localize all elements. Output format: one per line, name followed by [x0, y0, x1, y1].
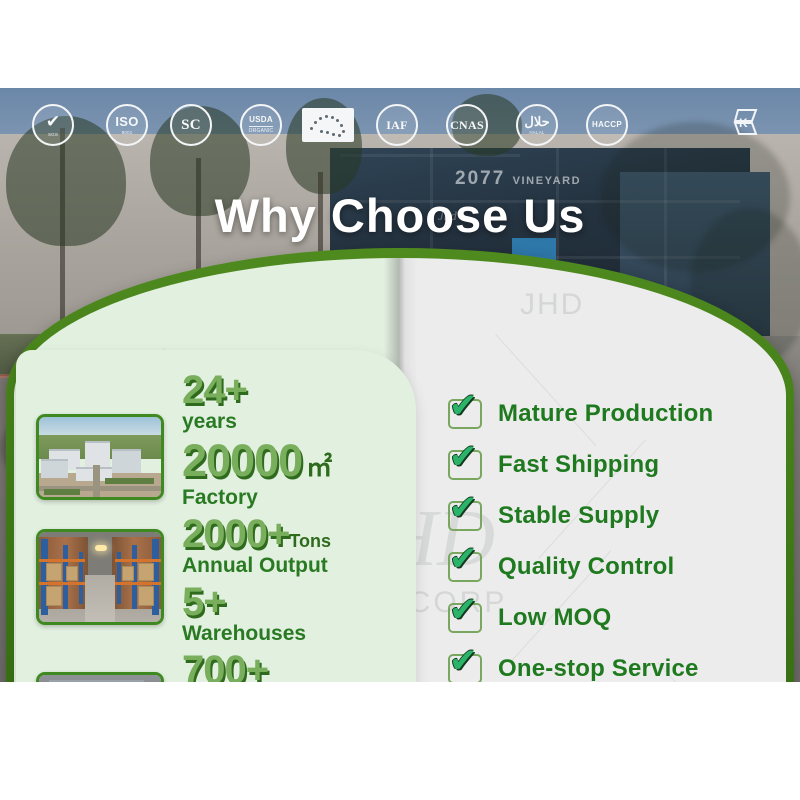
warehouse-aisle-photo[interactable] [36, 529, 164, 625]
sgs-badge[interactable]: ✔ SGS [30, 102, 76, 148]
photo-rack-rail [39, 559, 85, 562]
halal-arabic-icon: حلال [524, 115, 549, 128]
statistics-list: 24+ years 20000㎡ Factory 2000+Tons Annua… [182, 370, 412, 682]
photo-building [41, 459, 68, 478]
checkbox[interactable]: ✔ [448, 501, 482, 531]
checkbox[interactable]: ✔ [448, 399, 482, 429]
photo-carton [46, 563, 62, 581]
stat-value: 700+ [182, 650, 268, 682]
stat-value: 24+ [182, 370, 247, 410]
stat-value: 20000 [182, 438, 302, 483]
check-icon: ✔ [449, 440, 478, 474]
photo-carton [66, 566, 78, 581]
haccp-label: HACCP [592, 121, 622, 129]
haccp-badge[interactable]: HACCP [584, 102, 630, 148]
iaf-label: IAF [386, 119, 408, 131]
photo-carton [138, 586, 154, 606]
photo-aisle [85, 575, 114, 622]
advantage-item-low-moq[interactable]: ✔ Low MOQ [448, 592, 768, 643]
photo-carton [138, 563, 154, 581]
advantage-label: Stable Supply [498, 502, 659, 530]
kosher-k-letter: K [739, 116, 748, 130]
checkbox[interactable]: ✔ [448, 603, 482, 633]
kosher-badge[interactable]: K [730, 106, 770, 146]
check-icon: ✔ [449, 491, 478, 525]
advantages-checklist: ✔ Mature Production ✔ Fast Shipping ✔ St… [448, 388, 768, 682]
photo-rack-rail [115, 559, 161, 562]
photo-pipe [49, 680, 144, 682]
halal-label: HALAL [529, 130, 544, 135]
iaf-badge[interactable]: IAF [374, 102, 420, 148]
usda-organic-label: ORGANIC [249, 126, 274, 134]
advantage-item-fast-shipping[interactable]: ✔ Fast Shipping [448, 439, 768, 490]
check-icon: ✔ [449, 593, 478, 627]
checkbox[interactable]: ✔ [448, 450, 482, 480]
stat-factory-area: 20000㎡ Factory [182, 438, 412, 509]
iso-badge[interactable]: ISO 9001 [104, 102, 150, 148]
processing-tanks-photo[interactable] [36, 672, 164, 682]
advantage-label: Quality Control [498, 553, 674, 581]
photo-lawn [105, 478, 154, 484]
stat-annual-output: 2000+Tons Annual Output [182, 514, 412, 577]
page-title: Why Choose Us [0, 188, 800, 243]
sc-label: SC [181, 118, 201, 133]
photo-road [93, 465, 100, 497]
advantage-item-one-stop-service[interactable]: ✔ One-stop Service [448, 643, 768, 682]
advantage-label: Mature Production [498, 400, 713, 428]
halal-badge[interactable]: حلال HALAL [514, 102, 560, 148]
advantage-item-quality-control[interactable]: ✔ Quality Control [448, 541, 768, 592]
advantage-item-stable-supply[interactable]: ✔ Stable Supply [448, 490, 768, 541]
stat-warehouses: 5+ Warehouses [182, 582, 412, 645]
check-icon: ✔ [449, 389, 478, 423]
sgs-label: SGS [48, 132, 58, 137]
usda-badge[interactable]: USDA ORGANIC [238, 102, 284, 148]
kosher-k-icon: K [730, 106, 764, 140]
advantage-item-mature-production[interactable]: ✔ Mature Production [448, 388, 768, 439]
photo-rack-rail [39, 582, 85, 585]
stat-caption: Factory [182, 487, 412, 509]
stat-unit: ㎡ [306, 447, 332, 484]
stat-caption: Warehouses [182, 623, 412, 645]
sc-badge[interactable]: SC [168, 102, 214, 148]
cnas-label: CNAS [450, 119, 484, 131]
certification-badge-strip: ✔ SGS ISO 9001 SC USDA ORGANIC [0, 102, 800, 148]
stat-value: 2000+ [182, 514, 289, 554]
iso-label: ISO [115, 115, 138, 128]
building-street-number: 2077 VINEYARD [455, 168, 581, 190]
eu-organic-badge[interactable] [302, 108, 354, 142]
check-icon: ✔ [449, 542, 478, 576]
building-street-name: VINEYARD [513, 175, 582, 187]
stat-caption: years [182, 411, 412, 433]
eu-organic-leaf-icon [308, 113, 348, 137]
stat-value: 5+ [182, 582, 226, 622]
photo-lawn [44, 489, 81, 495]
check-circle-icon: ✔ [46, 113, 60, 130]
iso-standard-number: 9001 [122, 130, 133, 135]
photo-carton [46, 586, 62, 606]
stat-years: 24+ years [182, 370, 412, 433]
check-icon: ✔ [449, 644, 478, 678]
stat-unit: Tons [289, 531, 331, 552]
stat-caption: Annual Output [182, 555, 412, 577]
advantage-label: Low MOQ [498, 604, 611, 632]
usda-label: USDA [249, 116, 273, 124]
poster-canvas: 2077 VINEYARD Jhd ✔ SGS ISO 9001 [0, 88, 800, 682]
photo-carton [122, 566, 134, 581]
factory-aerial-photo[interactable] [36, 414, 164, 500]
advantage-label: One-stop Service [498, 655, 699, 683]
photo-pipe [90, 680, 93, 682]
photo-rack-rail [115, 582, 161, 585]
photo-ceiling-light [95, 545, 107, 551]
watermark-jhd: JHD [520, 288, 584, 322]
advantage-label: Fast Shipping [498, 451, 659, 479]
checkbox[interactable]: ✔ [448, 552, 482, 582]
cnas-badge[interactable]: CNAS [444, 102, 490, 148]
stat-ingredients-stock: 700+ Ingredients Stock [182, 650, 412, 682]
checkbox[interactable]: ✔ [448, 654, 482, 683]
photo-building [112, 449, 141, 473]
